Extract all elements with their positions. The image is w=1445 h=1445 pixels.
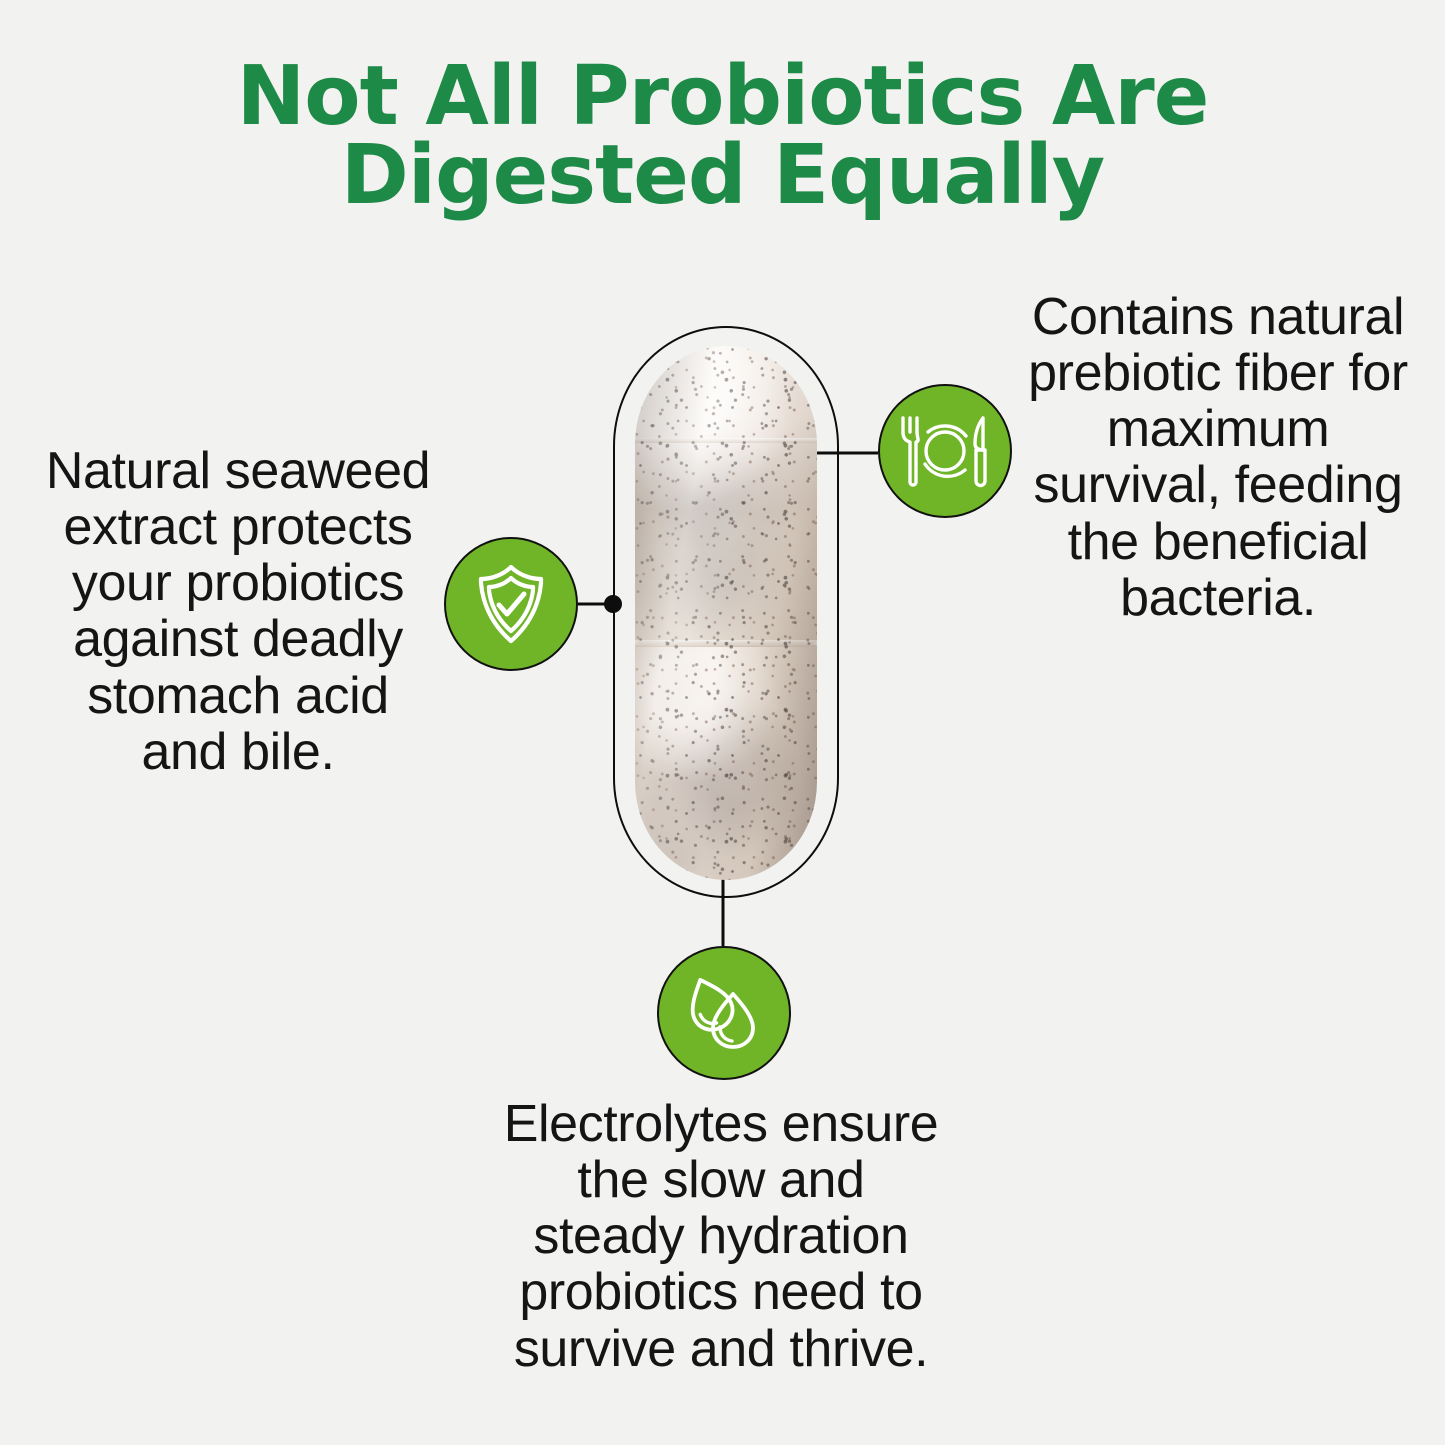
callout-left-line-3: your probiotics bbox=[18, 555, 458, 611]
water-droplets-icon-badge[interactable] bbox=[657, 946, 791, 1080]
callout-right-line-5: the beneficial bbox=[1000, 514, 1436, 570]
plate-fork-knife-icon-badge[interactable] bbox=[878, 384, 1012, 518]
callout-right-line-4: survival, feeding bbox=[1000, 457, 1436, 513]
callout-text-left: Natural seaweed extract protects your pr… bbox=[18, 443, 458, 780]
callout-right-line-2: prebiotic fiber for bbox=[1000, 345, 1436, 401]
capsule-image bbox=[635, 346, 817, 880]
callout-left-line-6: and bile. bbox=[18, 724, 458, 780]
callout-text-bottom: Electrolytes ensure the slow and steady … bbox=[480, 1096, 962, 1377]
callout-right-line-3: maximum bbox=[1000, 401, 1436, 457]
probiotic-infographic: Not All Probiotics Are Digested Equally bbox=[0, 0, 1445, 1445]
callout-left-line-5: stomach acid bbox=[18, 668, 458, 724]
callout-text-right: Contains natural prebiotic fiber for max… bbox=[1000, 289, 1436, 626]
capsule-body-half bbox=[635, 644, 817, 880]
callout-bottom-line-4: probiotics need to bbox=[480, 1264, 962, 1320]
plate-fork-knife-icon bbox=[897, 412, 993, 490]
callout-bottom-line-2: the slow and bbox=[480, 1152, 962, 1208]
callout-right-line-1: Contains natural bbox=[1000, 289, 1436, 345]
callout-bottom-line-1: Electrolytes ensure bbox=[480, 1096, 962, 1152]
callout-left-line-2: extract protects bbox=[18, 499, 458, 555]
callout-bottom-line-5: survive and thrive. bbox=[480, 1321, 962, 1377]
page-title-line-1: Not All Probiotics Are bbox=[0, 58, 1445, 137]
callout-left-line-1: Natural seaweed bbox=[18, 443, 458, 499]
capsule-cap-half bbox=[635, 346, 817, 644]
page-title-line-2: Digested Equally bbox=[0, 137, 1445, 216]
product-capsule bbox=[613, 326, 839, 898]
callout-bottom-line-3: steady hydration bbox=[480, 1208, 962, 1264]
water-droplets-icon bbox=[681, 972, 767, 1054]
page-title: Not All Probiotics Are Digested Equally bbox=[0, 58, 1445, 215]
callout-left-line-4: against deadly bbox=[18, 611, 458, 667]
shield-check-icon-badge[interactable] bbox=[444, 537, 578, 671]
callout-right-line-6: bacteria. bbox=[1000, 570, 1436, 626]
shield-check-icon bbox=[473, 563, 549, 645]
